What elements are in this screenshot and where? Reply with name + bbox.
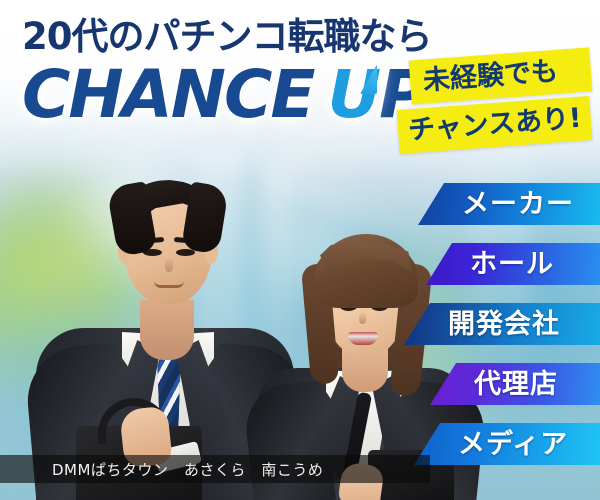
caption-bar: DMMぱちタウン あさくら 南こうめ	[0, 455, 430, 483]
category-label-media: メディア	[458, 431, 568, 458]
category-item-maker[interactable]: メーカー	[418, 183, 600, 225]
category-item-media[interactable]: メディア	[414, 423, 600, 465]
category-label-development-company: 開発会社	[448, 311, 560, 338]
category-label-agency: 代理店	[474, 371, 558, 398]
promo-banner: 20代のパチンコ転職なら CHANCEUP 未経験でも チャンスあり! メーカー…	[0, 0, 600, 500]
category-item-development-company[interactable]: 開発会社	[404, 303, 600, 345]
category-banner-list: メーカー ホール 開発会社 代理店 メディア	[0, 0, 600, 500]
category-label-maker: メーカー	[462, 191, 574, 218]
category-label-hall: ホール	[470, 251, 554, 278]
caption-text: DMMぱちタウン あさくら 南こうめ	[52, 459, 323, 480]
category-item-hall[interactable]: ホール	[426, 243, 600, 285]
category-item-agency[interactable]: 代理店	[430, 363, 600, 405]
